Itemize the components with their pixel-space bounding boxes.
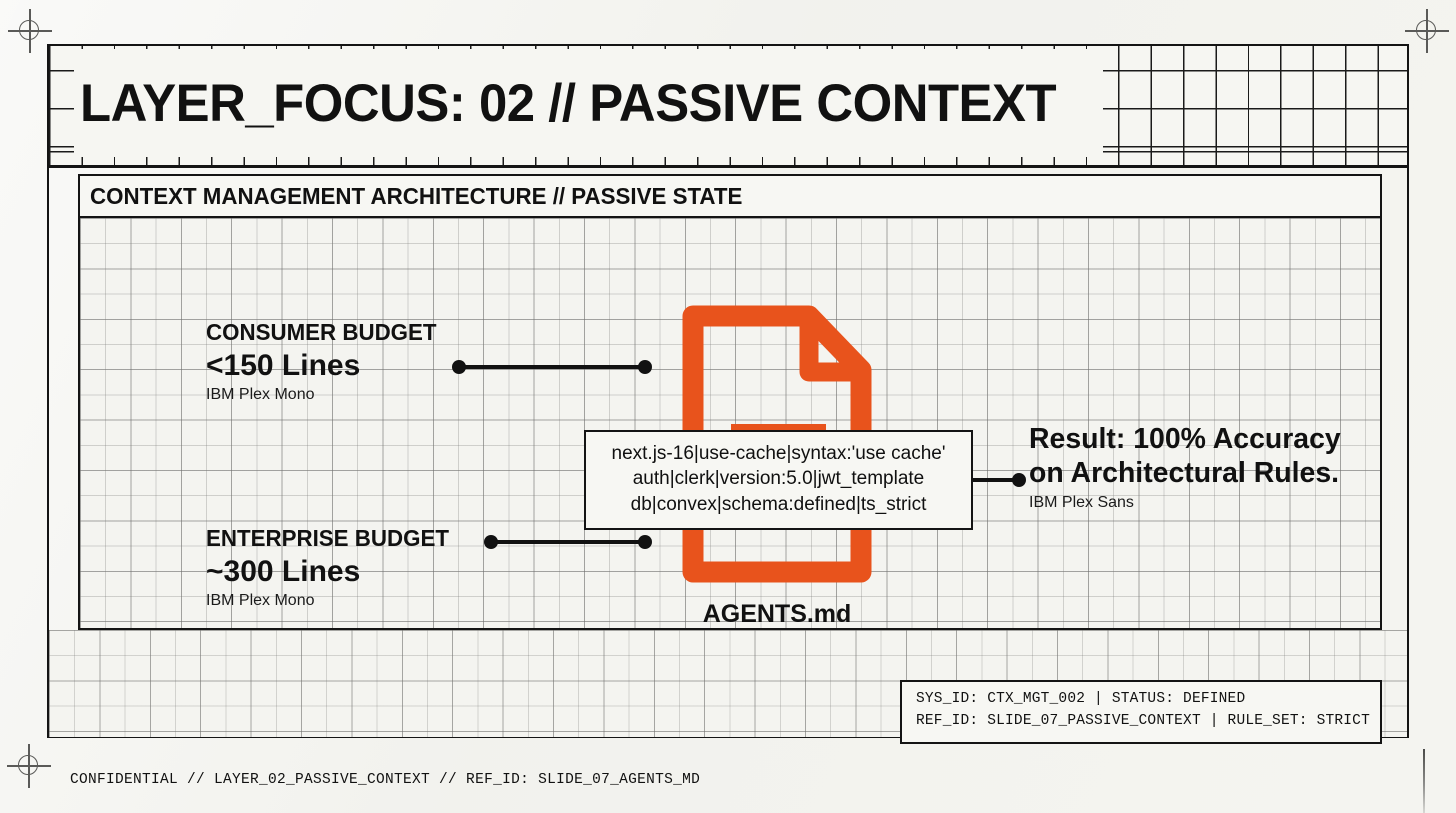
connector-dot-end-icon	[1012, 473, 1026, 487]
code-line: next.js-16|use-cache|syntax:'use cache'	[596, 441, 961, 466]
metric-value: ~300 Lines	[206, 554, 456, 590]
footer-confidential-note: CONFIDENTIAL // LAYER_02_PASSIVE_CONTEXT…	[70, 772, 700, 788]
diagram-panel: CONSUMER BUDGET <150 Lines IBM Plex Mono…	[78, 218, 1382, 630]
metric-consumer-budget: CONSUMER BUDGET <150 Lines IBM Plex Mono	[206, 320, 444, 404]
slide-frame: LAYER_FOCUS: 02 // PASSIVE CONTEXT CONTE…	[47, 44, 1409, 738]
status-metadata-box: SYS_ID: CTX_MGT_002 | STATUS: DEFINED RE…	[900, 680, 1382, 744]
metric-enterprise-budget: ENTERPRISE BUDGET ~300 Lines IBM Plex Mo…	[206, 526, 456, 610]
page-title: LAYER_FOCUS: 02 // PASSIVE CONTEXT	[80, 73, 1056, 134]
result-block: Result: 100% Accuracy on Architectural R…	[1029, 422, 1369, 513]
status-line-ref-id: REF_ID: SLIDE_07_PASSIVE_CONTEXT | RULE_…	[916, 711, 1366, 733]
result-caption: IBM Plex Sans	[1029, 493, 1369, 512]
metric-value: <150 Lines	[206, 348, 444, 384]
section-subtitle-bar: CONTEXT MANAGEMENT ARCHITECTURE // PASSI…	[78, 174, 1382, 218]
connector-consumer-to-document	[452, 360, 652, 374]
result-headline-line-2: on Architectural Rules.	[1029, 456, 1362, 490]
metric-title: ENTERPRISE BUDGET	[206, 526, 449, 550]
context-rules-code-box: next.js-16|use-cache|syntax:'use cache' …	[584, 430, 973, 530]
result-headline-line-1: Result: 100% Accuracy	[1029, 422, 1362, 456]
connector-dot-end-icon	[638, 535, 652, 549]
connector-dot-end-icon	[638, 360, 652, 374]
connector-dot-start-icon	[452, 360, 466, 374]
connector-enterprise-to-document	[484, 535, 652, 549]
connector-dot-start-icon	[484, 535, 498, 549]
code-line: auth|clerk|version:5.0|jwt_template	[596, 466, 961, 491]
registration-mark-top-right-icon	[1405, 9, 1449, 53]
document-label: AGENTS.md IBM Plex Mono	[669, 600, 885, 630]
header-band: LAYER_FOCUS: 02 // PASSIVE CONTEXT	[49, 46, 1407, 165]
slide-canvas: LAYER_FOCUS: 02 // PASSIVE CONTEXT CONTE…	[0, 0, 1456, 813]
registration-tick-bottom-right-icon	[1423, 749, 1425, 813]
header-divider	[49, 165, 1407, 168]
registration-mark-top-left-icon	[8, 9, 52, 53]
metric-caption: IBM Plex Mono	[206, 591, 456, 610]
code-line: db|convex|schema:defined|ts_strict	[596, 492, 961, 517]
metric-title: CONSUMER BUDGET	[206, 320, 437, 344]
registration-mark-bottom-left-icon	[7, 744, 51, 788]
metric-caption: IBM Plex Mono	[206, 385, 444, 404]
document-name: AGENTS.md	[669, 600, 885, 629]
status-line-sys-id: SYS_ID: CTX_MGT_002 | STATUS: DEFINED	[916, 689, 1366, 711]
page-title-plate: LAYER_FOCUS: 02 // PASSIVE CONTEXT	[74, 49, 1103, 157]
section-subtitle: CONTEXT MANAGEMENT ARCHITECTURE // PASSI…	[90, 183, 742, 210]
